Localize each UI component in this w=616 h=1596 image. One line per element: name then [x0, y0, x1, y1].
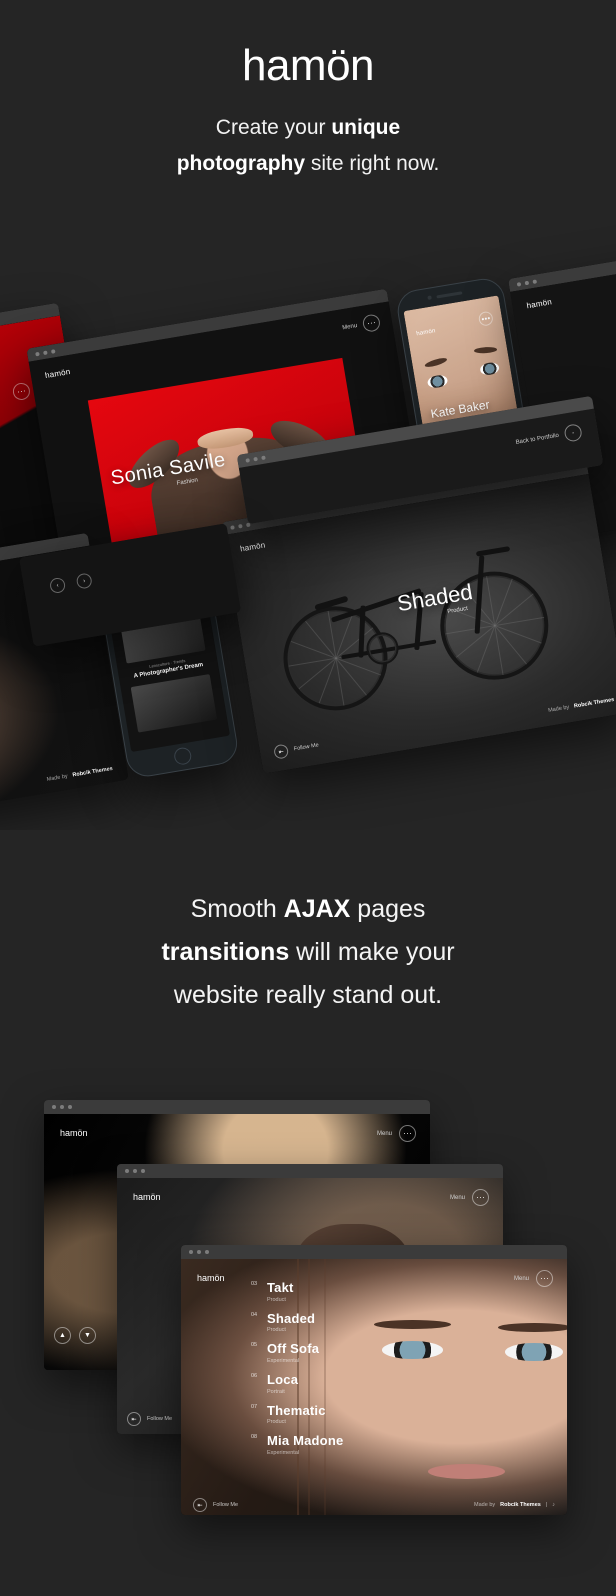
chevron-down-icon[interactable]	[563, 423, 583, 443]
list-item-category: Product	[267, 1297, 343, 1303]
window-footer: ⇤ Follow Me Made by Robcik Themes | ♪	[181, 1495, 567, 1515]
phone-camera-icon	[427, 295, 432, 300]
list-item-name: Off Sofa	[267, 1342, 343, 1356]
mockup-logo: hamön	[133, 1192, 161, 1202]
hero-subtitle-bold-1: unique	[331, 116, 400, 139]
list-item-name: Mia Madone	[267, 1434, 343, 1448]
phone-speaker	[436, 291, 462, 298]
mockup-logo: hamön	[197, 1273, 225, 1283]
follow-me-label: Follow Me	[293, 742, 319, 752]
background-photo	[181, 1259, 567, 1515]
hero-subtitle-plain-1: Create your	[216, 116, 332, 139]
phone-home-button[interactable]	[173, 746, 193, 766]
follow-me-button[interactable]: ⇤ Follow Me	[127, 1412, 172, 1426]
hero-mockup-collage: hamön Menu Sonia Savile Fashion	[0, 185, 616, 830]
sound-icon[interactable]: ♪	[552, 1502, 555, 1508]
list-item-number: 05	[251, 1342, 257, 1348]
portfolio-menu-list[interactable]: 03 Takt Product 04 Shaded Product 05 Off…	[267, 1281, 343, 1465]
follow-me-label: Follow Me	[213, 1502, 238, 1508]
stacked-browser-windows: hamön Menu ▲ ▼ hamön Menu	[0, 1080, 616, 1520]
mid-bold-transitions: transitions	[161, 938, 289, 966]
window-titlebar	[44, 1100, 430, 1114]
list-item-category: Portrait	[267, 1389, 343, 1395]
landing-page: hamön Create your unique photography sit…	[0, 0, 616, 1596]
mockup-menu-button[interactable]: Menu	[514, 1270, 553, 1287]
back-to-portfolio-button[interactable]: Back to Portfolio	[514, 423, 583, 451]
mid-plain-d: website really stand out.	[174, 981, 442, 1009]
chevron-up-icon[interactable]: ▲	[54, 1327, 71, 1344]
list-item-number: 08	[251, 1434, 257, 1440]
list-item[interactable]: 08 Mia Madone Experimental	[267, 1434, 343, 1456]
mid-plain-a: Smooth	[191, 895, 284, 923]
back-to-portfolio-label: Back to Portfolio	[515, 432, 559, 445]
menu-label: Menu	[450, 1195, 465, 1201]
mid-plain-b: pages	[350, 895, 425, 923]
list-item[interactable]: 07 Thematic Product	[267, 1404, 343, 1426]
list-item-number: 03	[251, 1281, 257, 1287]
more-dots-icon[interactable]	[472, 1189, 489, 1206]
chevron-down-icon[interactable]: ▼	[79, 1327, 96, 1344]
list-item-number: 06	[251, 1373, 257, 1379]
slide-nav-buttons[interactable]: ▲ ▼	[54, 1327, 96, 1344]
list-item[interactable]: 03 Takt Product	[267, 1281, 343, 1303]
list-item-number: 04	[251, 1312, 257, 1318]
list-item-category: Product	[267, 1419, 343, 1425]
list-item-name: Shaded	[267, 1312, 343, 1326]
hero-subtitle: Create your unique photography site righ…	[0, 110, 616, 181]
hero-header: hamön Create your unique photography sit…	[0, 0, 616, 181]
made-by-credit: Made by Robcik Themes | ♪	[474, 1502, 555, 1508]
hero-subtitle-plain-2: site right now.	[305, 152, 439, 175]
window-titlebar	[117, 1164, 503, 1178]
blog-thumbnail[interactable]	[131, 674, 217, 733]
window-screen: hamön Menu 03 Takt Product 04 Shaded Pro…	[181, 1259, 567, 1515]
list-item[interactable]: 05 Off Sofa Experimental	[267, 1342, 343, 1364]
mockup-menu-button[interactable]: Menu	[377, 1125, 416, 1142]
mockup-logo: hamön	[44, 367, 71, 380]
follow-me-label: Follow Me	[147, 1416, 172, 1422]
menu-label: Menu	[514, 1276, 529, 1282]
more-dots-icon[interactable]	[399, 1125, 416, 1142]
list-item[interactable]: 06 Loca Portrait	[267, 1373, 343, 1395]
list-item-number: 07	[251, 1404, 257, 1410]
menu-label: Menu	[377, 1131, 392, 1137]
mockup-menu-button[interactable]: Menu	[341, 313, 381, 336]
arrow-right-icon[interactable]: ›	[76, 572, 93, 589]
list-item-category: Experimental	[267, 1450, 343, 1456]
window-titlebar	[181, 1245, 567, 1259]
ajax-transitions-text: Smooth AJAX pages transitions will make …	[0, 888, 616, 1017]
more-dots-icon[interactable]	[362, 313, 382, 333]
list-item-category: Experimental	[267, 1358, 343, 1364]
list-item-name: Takt	[267, 1281, 343, 1295]
list-item-category: Product	[267, 1327, 343, 1333]
browser-window-front[interactable]: hamön Menu 03 Takt Product 04 Shaded Pro…	[181, 1245, 567, 1515]
mid-plain-c: will make your	[289, 938, 454, 966]
arrow-left-icon[interactable]: ‹	[49, 577, 66, 594]
list-item-name: Loca	[267, 1373, 343, 1387]
share-icon[interactable]: ⇤	[127, 1412, 141, 1426]
mid-bold-ajax: AJAX	[284, 895, 351, 923]
menu-label: Menu	[342, 323, 358, 331]
list-item[interactable]: 04 Shaded Product	[267, 1312, 343, 1334]
page-title: hamön	[0, 44, 616, 88]
hero-subtitle-bold-2: photography	[177, 152, 305, 175]
mockup-menu-button[interactable]: Menu	[450, 1189, 489, 1206]
share-icon[interactable]: ⇤	[193, 1498, 207, 1512]
list-item-name: Thematic	[267, 1404, 343, 1418]
mockup-logo: hamön	[60, 1128, 88, 1138]
made-by-prefix: Made by	[474, 1502, 495, 1508]
made-by-name: Robcik Themes	[500, 1502, 541, 1508]
footer-separator: |	[546, 1502, 547, 1508]
share-icon[interactable]: ⇤	[273, 744, 289, 760]
follow-me-button[interactable]: ⇤ Follow Me	[193, 1498, 238, 1512]
more-dots-icon[interactable]	[536, 1270, 553, 1287]
